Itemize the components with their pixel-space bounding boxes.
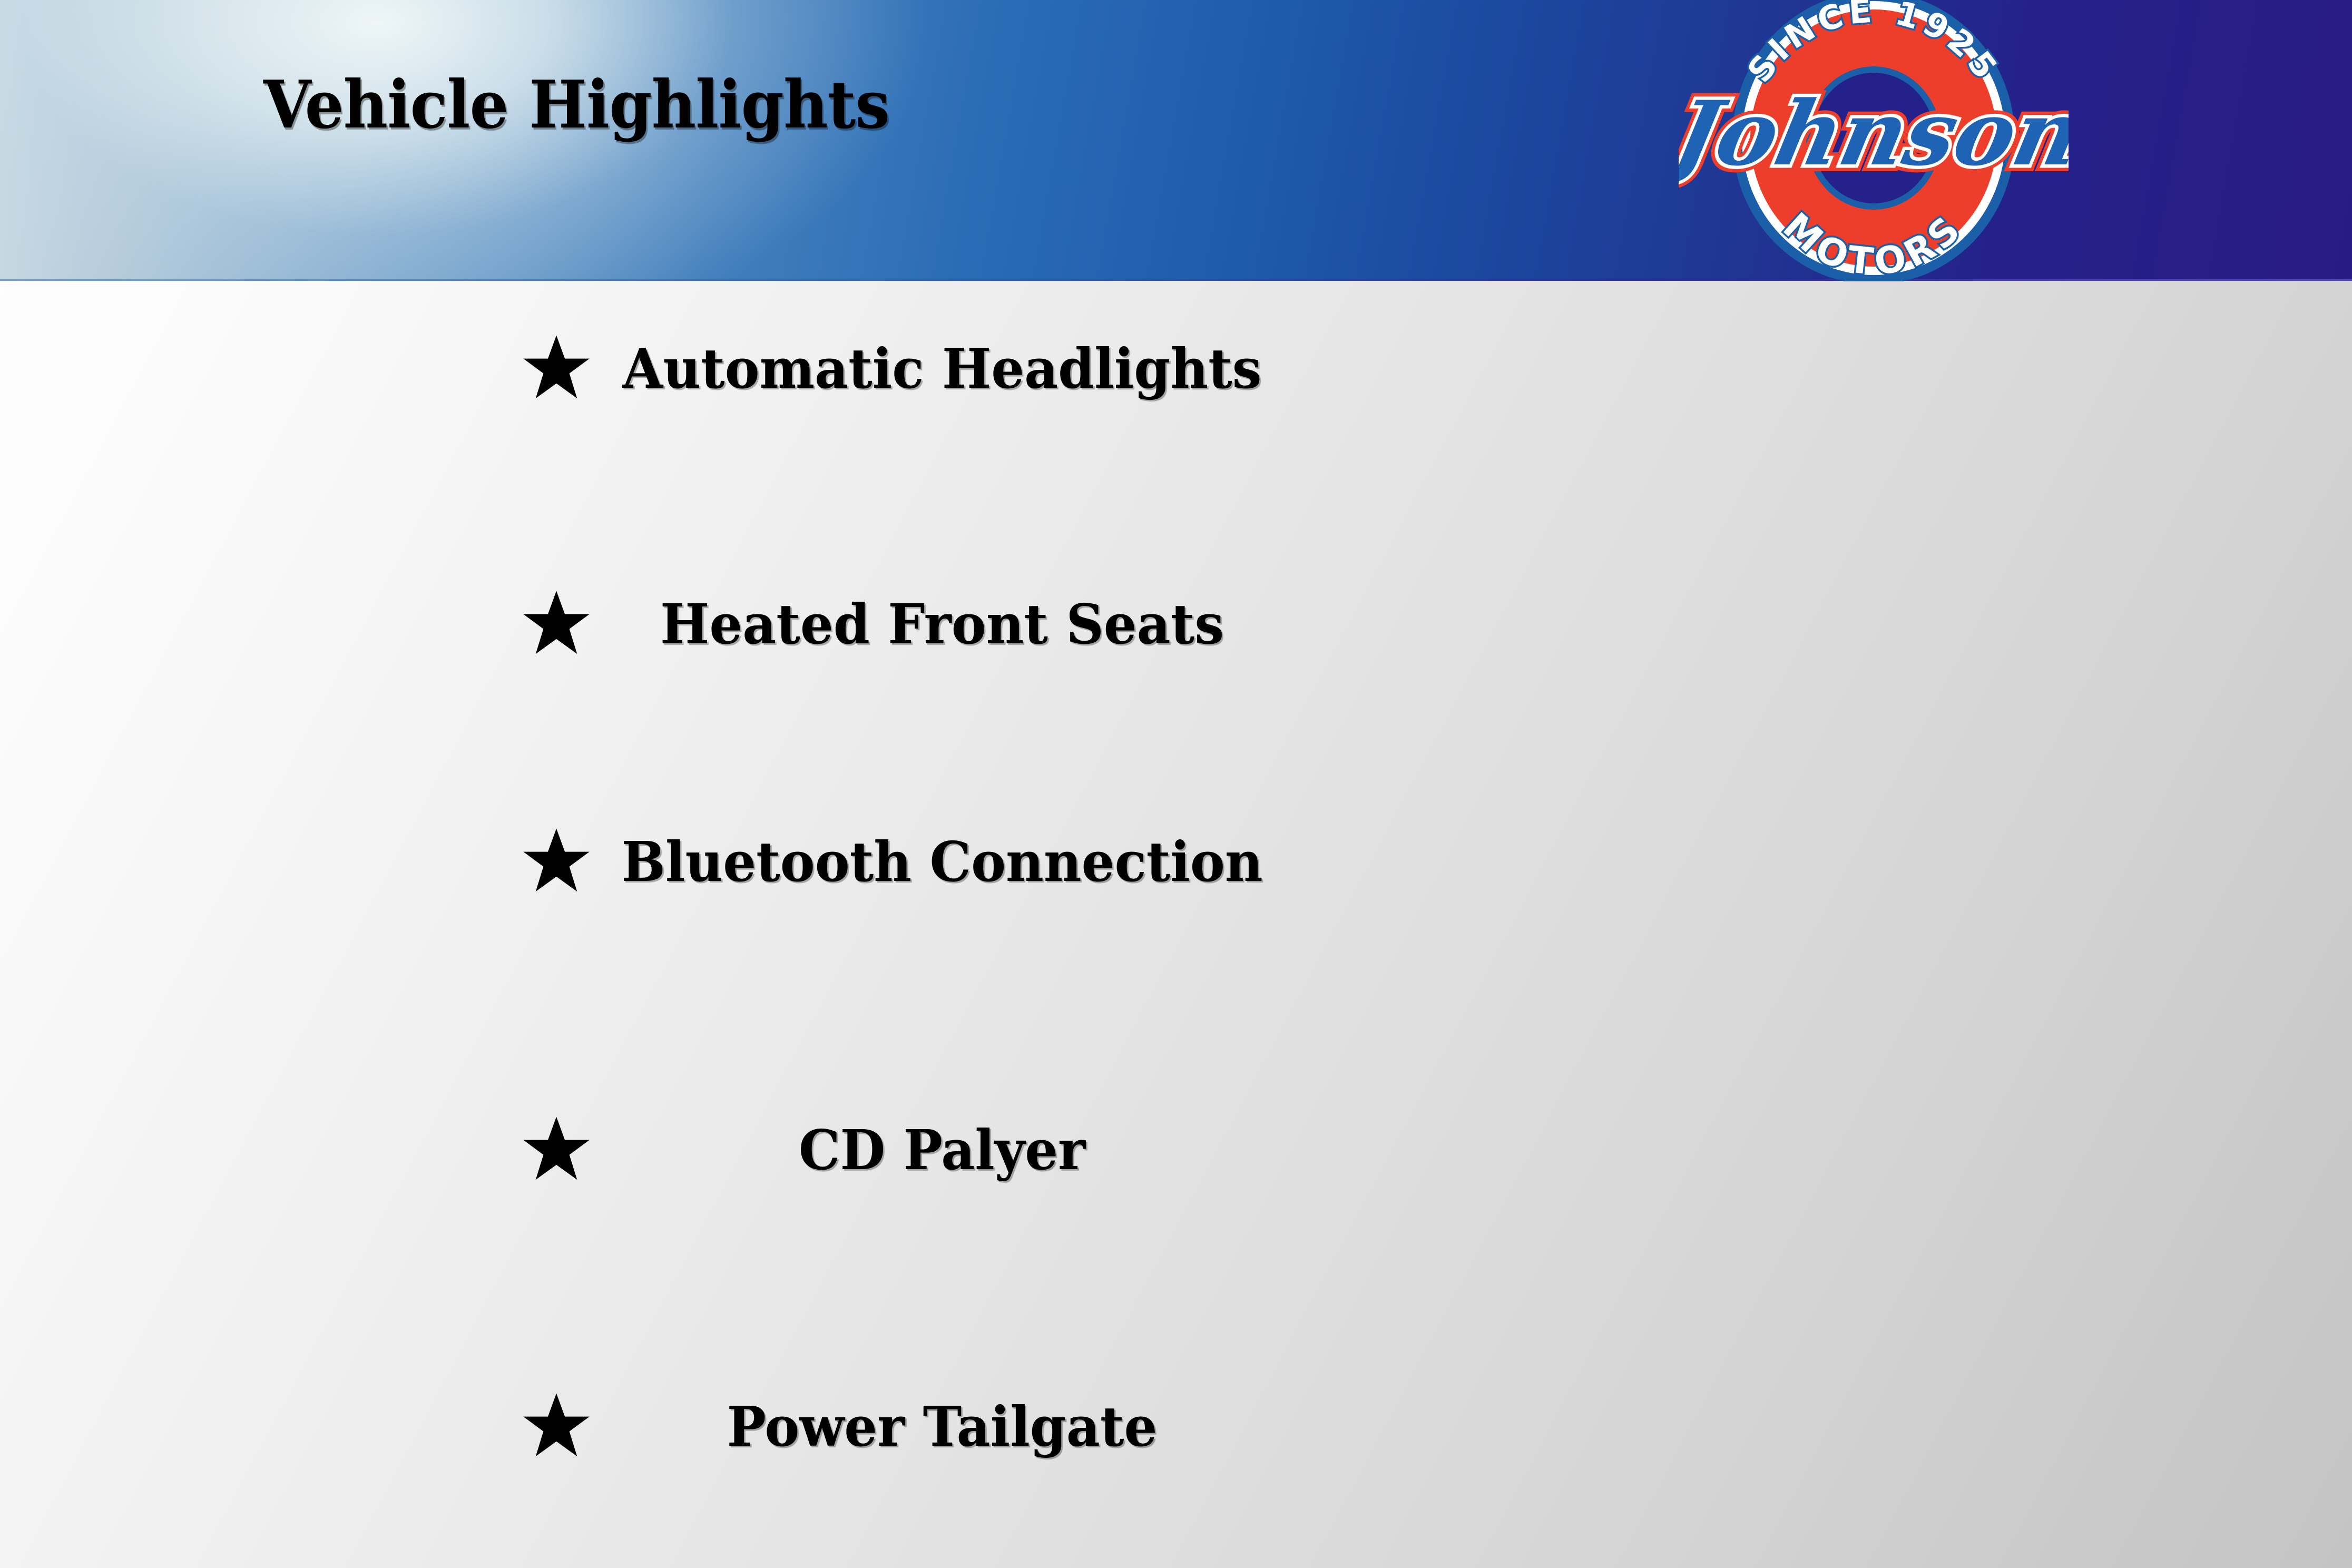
highlight-label: Power Tailgate bbox=[0, 1399, 2059, 1454]
vehicle-highlights-list: Automatic Headlights Heated Front Seats bbox=[0, 281, 2352, 1568]
highlight-label: Automatic Headlights bbox=[0, 341, 2059, 396]
highlight-label: Bluetooth Connection bbox=[0, 835, 2059, 889]
johnson-motors-logo: SINCE 1925 MOTORS Johnson Johnson Johnso… bbox=[1679, 0, 2069, 281]
highlight-label: CD Palyer bbox=[0, 1123, 2059, 1178]
highlight-label: Heated Front Seats bbox=[0, 597, 2059, 652]
page-title: Vehicle Highlights bbox=[263, 70, 889, 141]
slide-canvas: Vehicle Highlights SINCE 1925 MO bbox=[0, 0, 2352, 1568]
logo-wordmark: Johnson bbox=[1679, 82, 2069, 186]
